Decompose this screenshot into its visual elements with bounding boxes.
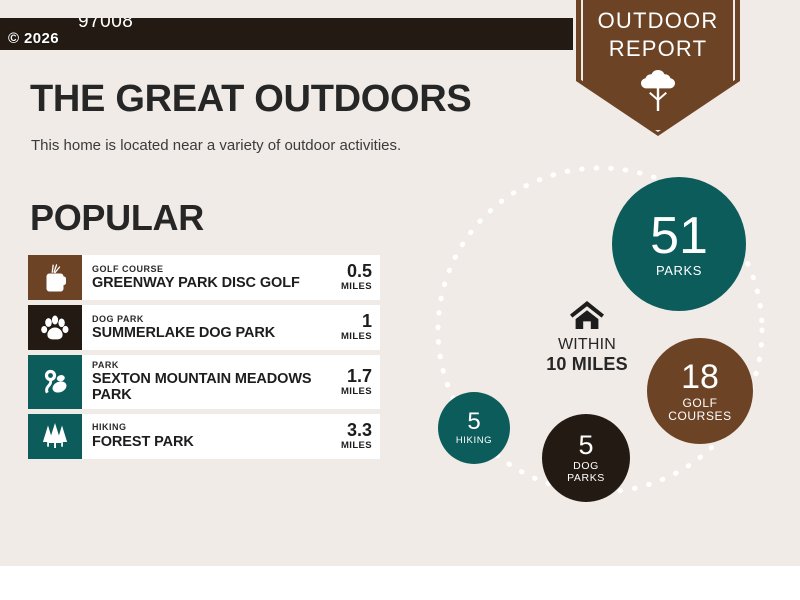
page-title: THE GREAT OUTDOORS — [30, 80, 471, 118]
poi-icon-tile — [28, 355, 82, 409]
paw-print-icon — [40, 313, 70, 343]
bubble-hiking-count: 5 — [467, 410, 480, 434]
poi-distance-unit: MILES — [341, 386, 372, 397]
poi-category: HIKING — [92, 422, 320, 433]
outdoor-report-screen: 97008 OUTDOOR REPORT THE GREAT OUTDOORS … — [0, 0, 800, 600]
poi-distance: 1.7 MILES — [324, 355, 380, 409]
poi-icon-tile — [28, 414, 82, 459]
badge-line-1: OUTDOOR — [576, 10, 740, 32]
bubble-parks[interactable]: 51 PARKS — [612, 177, 746, 311]
poi-text: PARK SEXTON MOUNTAIN MEADOWS PARK — [82, 355, 324, 409]
bubble-golf-label-line2: COURSES — [668, 410, 732, 423]
within-line-2: 10 MILES — [522, 354, 652, 374]
poi-distance-value: 3.3 — [347, 421, 372, 440]
poi-distance: 1 MILES — [324, 305, 380, 350]
bubble-hiking[interactable]: 5 HIKING — [438, 392, 510, 464]
poi-text: GOLF COURSE GREENWAY PARK DISC GOLF — [82, 255, 324, 300]
pine-trees-icon — [40, 422, 70, 450]
poi-text: HIKING FOREST PARK — [82, 414, 324, 459]
outdoor-report-badge: OUTDOOR REPORT — [576, 0, 740, 136]
popular-list: GOLF COURSE GREENWAY PARK DISC GOLF 0.5 … — [28, 255, 380, 464]
poi-category: DOG PARK — [92, 314, 320, 325]
page-subtitle: This home is located near a variety of o… — [31, 138, 401, 153]
poi-category: GOLF COURSE — [92, 264, 320, 275]
address-bar: 97008 — [0, 18, 573, 50]
within-radius-note: WITHIN 10 MILES — [522, 300, 652, 374]
poi-distance-unit: MILES — [341, 331, 372, 342]
poi-distance-value: 1.7 — [347, 367, 372, 386]
bubble-hiking-label: HIKING — [456, 436, 492, 446]
list-item[interactable]: GOLF COURSE GREENWAY PARK DISC GOLF 0.5 … — [28, 255, 380, 300]
poi-distance: 3.3 MILES — [324, 414, 380, 459]
list-item[interactable]: DOG PARK SUMMERLAKE DOG PARK 1 MILES — [28, 305, 380, 350]
bubble-dog-parks-label-line2: PARKS — [567, 473, 605, 484]
list-item[interactable]: PARK SEXTON MOUNTAIN MEADOWS PARK 1.7 MI… — [28, 355, 380, 409]
poi-name: FOREST PARK — [92, 434, 320, 450]
poi-category: PARK — [92, 360, 320, 371]
popular-heading: POPULAR — [30, 200, 204, 236]
home-icon — [569, 300, 605, 330]
poi-name: GREENWAY PARK DISC GOLF — [92, 275, 320, 291]
poi-distance-unit: MILES — [341, 440, 372, 451]
poi-icon-tile — [28, 305, 82, 350]
summary-bubble-diagram: 51 PARKS 18 GOLF COURSES 5 DOG PARKS 5 H… — [400, 160, 800, 540]
poi-text: DOG PARK SUMMERLAKE DOG PARK — [82, 305, 324, 350]
bubble-golf-courses[interactable]: 18 GOLF COURSES — [647, 338, 753, 444]
poi-name: SUMMERLAKE DOG PARK — [92, 325, 320, 341]
address-bar-text: 97008 — [78, 18, 133, 33]
list-item[interactable]: HIKING FOREST PARK 3.3 MILES — [28, 414, 380, 459]
bubble-golf-label-line1: GOLF — [682, 397, 717, 410]
poi-distance-value: 0.5 — [347, 262, 372, 281]
bubble-parks-label: PARKS — [656, 264, 702, 278]
poi-distance: 0.5 MILES — [324, 255, 380, 300]
within-line-1: WITHIN — [522, 336, 652, 354]
tree-icon — [638, 68, 678, 112]
bubble-dog-parks-count: 5 — [578, 432, 593, 459]
golf-bag-icon — [42, 263, 68, 293]
bubble-parks-count: 51 — [650, 210, 708, 262]
page-canvas: 97008 OUTDOOR REPORT THE GREAT OUTDOORS … — [0, 0, 800, 566]
park-trees-icon — [40, 367, 70, 397]
bubble-dog-parks-label-line1: DOG — [573, 461, 599, 472]
poi-distance-value: 1 — [362, 312, 372, 331]
bubble-golf-count: 18 — [681, 360, 719, 394]
copyright-watermark: © 2026 — [8, 30, 59, 47]
badge-line-2: REPORT — [576, 38, 740, 60]
poi-name: SEXTON MOUNTAIN MEADOWS PARK — [92, 371, 320, 403]
poi-icon-tile — [28, 255, 82, 300]
poi-distance-unit: MILES — [341, 281, 372, 292]
bubble-dog-parks[interactable]: 5 DOG PARKS — [542, 414, 630, 502]
